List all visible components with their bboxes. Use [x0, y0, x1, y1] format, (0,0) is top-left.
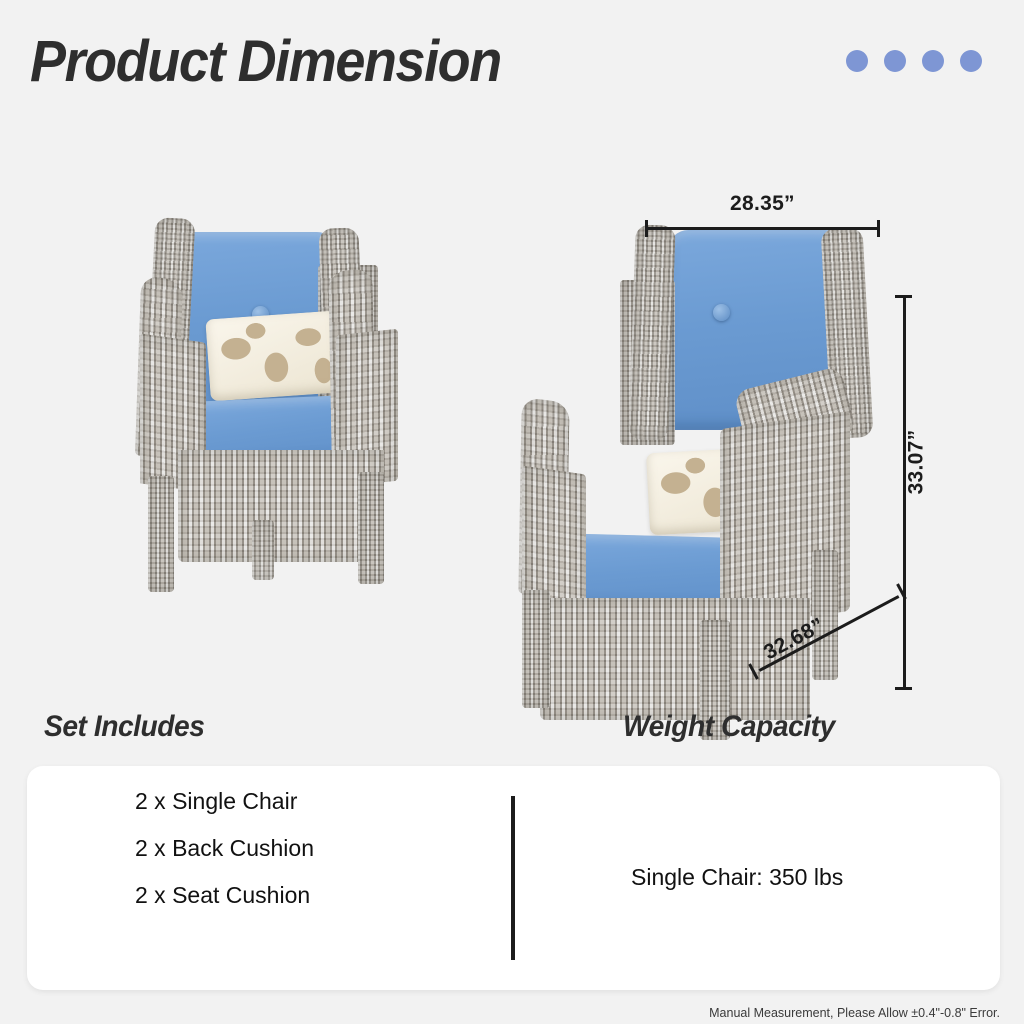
dot-indicator-2 — [884, 50, 906, 72]
chair-left-leg-front-right — [358, 472, 384, 584]
section-divider — [511, 796, 515, 960]
chair-left-leg-front-left — [148, 476, 174, 592]
dimension-width-label: 28.35” — [730, 192, 795, 216]
measurement-disclaimer: Manual Measurement, Please Allow ±0.4"-0… — [709, 1006, 1000, 1020]
list-item: 2 x Single Chair — [135, 788, 314, 815]
weight-capacity-heading: Weight Capacity — [623, 710, 835, 744]
dot-indicator-3 — [922, 50, 944, 72]
chair-left-throw-pillow — [205, 311, 340, 402]
chair-right-leg-front-left — [522, 590, 550, 708]
dot-indicator-1 — [846, 50, 868, 72]
chair-right-tuft-button — [713, 304, 730, 321]
dot-indicator-4 — [960, 50, 982, 72]
product-illustration: 28.35” 33.07” 32.68” — [0, 120, 1024, 690]
chair-right-back-rail-left — [628, 224, 675, 440]
list-item: 2 x Back Cushion — [135, 835, 314, 862]
info-card: 2 x Single Chair 2 x Back Cushion 2 x Se… — [27, 766, 1000, 990]
dimension-depth-label: 32.68” — [760, 614, 829, 666]
decorative-dots — [846, 50, 982, 72]
chair-left-leg-back — [252, 520, 274, 580]
page-title: Product Dimension — [30, 28, 501, 95]
set-includes-list: 2 x Single Chair 2 x Back Cushion 2 x Se… — [135, 788, 314, 909]
set-includes-heading: Set Includes — [44, 710, 204, 744]
weight-capacity-value: Single Chair: 350 lbs — [631, 864, 843, 891]
list-item: 2 x Seat Cushion — [135, 882, 314, 909]
chair-left-base — [178, 450, 384, 562]
dimension-depth: 32.68” — [758, 562, 910, 702]
dimension-height-label: 33.07” — [904, 430, 928, 495]
